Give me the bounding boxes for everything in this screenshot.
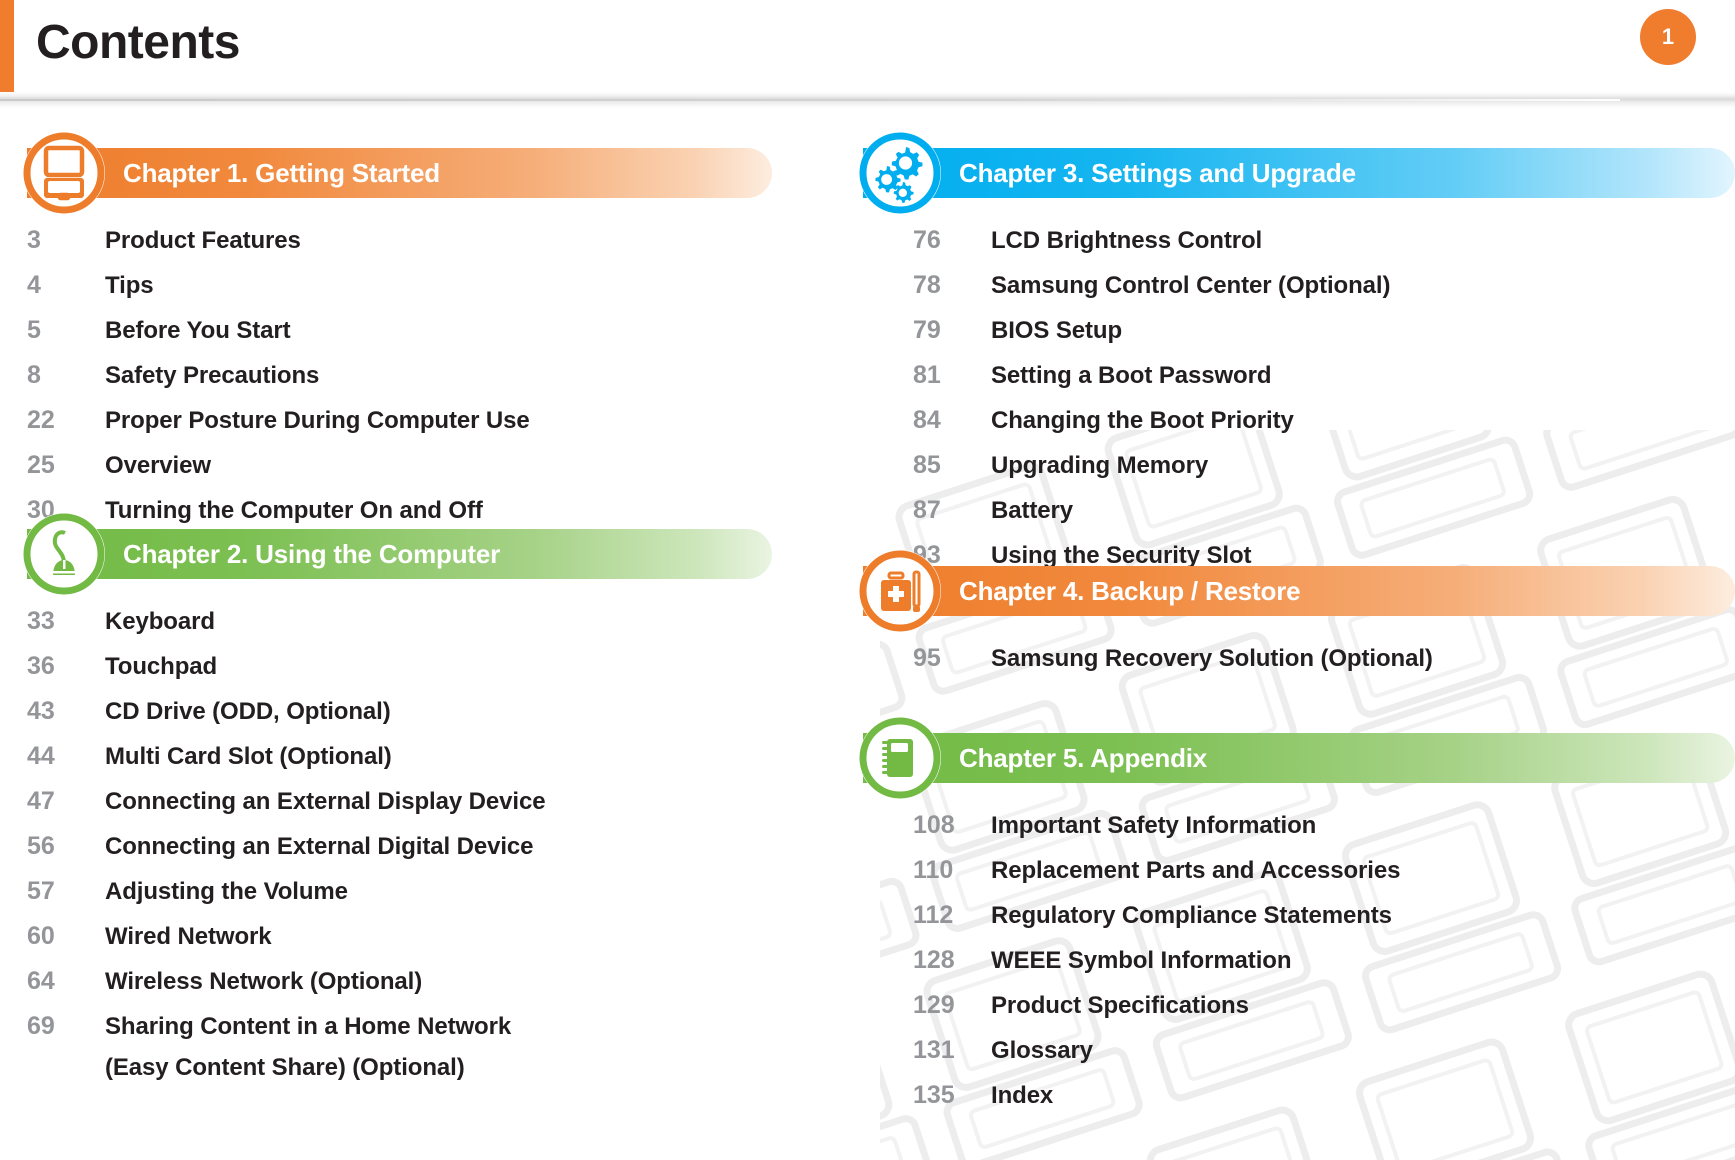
entry-title: Keyboard xyxy=(105,601,215,642)
entry-title: Setting a Boot Password xyxy=(991,355,1271,396)
gears-icon xyxy=(859,132,941,214)
chapter-entries-3: 76 LCD Brightness Control 78 Samsung Con… xyxy=(913,220,1735,576)
toc-entry[interactable]: 112 Regulatory Compliance Statements xyxy=(913,895,1735,936)
entry-page-number: 128 xyxy=(913,940,991,981)
toc-entry[interactable]: 25 Overview xyxy=(27,445,772,486)
entry-page-number: 57 xyxy=(27,871,105,912)
toc-entry[interactable]: 76 LCD Brightness Control xyxy=(913,220,1735,261)
entry-title: Regulatory Compliance Statements xyxy=(991,895,1392,936)
entry-page-number: 76 xyxy=(913,220,991,261)
chapter-entries-4: 95 Samsung Recovery Solution (Optional) xyxy=(913,638,1735,679)
toc-entry[interactable]: 135 Index xyxy=(913,1075,1735,1116)
page-number-badge: 1 xyxy=(1640,9,1696,65)
right-column: Chapter 3. Settings and Upgrade 76 LCD B… xyxy=(868,0,1735,1160)
entry-page-number: 95 xyxy=(913,638,991,679)
entry-title: LCD Brightness Control xyxy=(991,220,1262,261)
entry-page-number: 5 xyxy=(27,310,105,351)
entry-page-number: 85 xyxy=(913,445,991,486)
entry-page-number: 110 xyxy=(913,850,991,891)
toc-entry[interactable]: 108 Important Safety Information xyxy=(913,805,1735,846)
left-column: Chapter 1. Getting Started 3 Product Fea… xyxy=(0,0,868,1160)
header-accent-bar xyxy=(0,0,14,92)
chapter-header-bar-4[interactable]: Chapter 4. Backup / Restore xyxy=(863,566,1735,616)
entry-title-multiline: Sharing Content in a Home Network (Easy … xyxy=(105,1006,511,1088)
entry-title: Turning the Computer On and Off xyxy=(105,490,483,531)
toc-entry[interactable]: 64 Wireless Network (Optional) xyxy=(27,961,772,1002)
toc-entry[interactable]: 110 Replacement Parts and Accessories xyxy=(913,850,1735,891)
toc-entry[interactable]: 44 Multi Card Slot (Optional) xyxy=(27,736,772,777)
entry-title: WEEE Symbol Information xyxy=(991,940,1291,981)
entry-title: Samsung Control Center (Optional) xyxy=(991,265,1390,306)
toc-entry[interactable]: 95 Samsung Recovery Solution (Optional) xyxy=(913,638,1735,679)
toc-entry[interactable]: 22 Proper Posture During Computer Use xyxy=(27,400,772,441)
entry-title: Connecting an External Display Device xyxy=(105,781,545,822)
chapter-entries-1: 3 Product Features 4 Tips 5 Before You S… xyxy=(27,220,772,531)
toc-entry[interactable]: 81 Setting a Boot Password xyxy=(913,355,1735,396)
toc-entry[interactable]: 4 Tips xyxy=(27,265,772,306)
entry-title: CD Drive (ODD, Optional) xyxy=(105,691,391,732)
toc-entry[interactable]: 84 Changing the Boot Priority xyxy=(913,400,1735,441)
entry-page-number: 81 xyxy=(913,355,991,396)
chapter-block-4: Chapter 4. Backup / Restore 95 Samsung R… xyxy=(863,566,1735,683)
entry-title: BIOS Setup xyxy=(991,310,1122,351)
entry-title: Proper Posture During Computer Use xyxy=(105,400,530,441)
entry-title-line-2: (Easy Content Share) (Optional) xyxy=(105,1047,511,1088)
entry-page-number: 131 xyxy=(913,1030,991,1071)
entry-title: Multi Card Slot (Optional) xyxy=(105,736,392,777)
entry-page-number: 44 xyxy=(27,736,105,777)
entry-title: Battery xyxy=(991,490,1073,531)
chapter-title-4: Chapter 4. Backup / Restore xyxy=(959,576,1300,607)
entry-title: Product Features xyxy=(105,220,301,261)
header-divider-line xyxy=(0,99,1620,101)
entry-page-number: 112 xyxy=(913,895,991,936)
chapter-header-bar-3[interactable]: Chapter 3. Settings and Upgrade xyxy=(863,148,1735,198)
toc-entry[interactable]: 85 Upgrading Memory xyxy=(913,445,1735,486)
entry-title: Touchpad xyxy=(105,646,217,687)
chapter-title-2: Chapter 2. Using the Computer xyxy=(123,539,500,570)
toc-entry[interactable]: 131 Glossary xyxy=(913,1030,1735,1071)
chapter-header-bar-2[interactable]: Chapter 2. Using the Computer xyxy=(27,529,772,579)
chapter-header-bar-1[interactable]: Chapter 1. Getting Started xyxy=(27,148,772,198)
page-title: Contents xyxy=(36,14,240,72)
toc-entry[interactable]: 33 Keyboard xyxy=(27,601,772,642)
toc-entry[interactable]: 129 Product Specifications xyxy=(913,985,1735,1026)
entry-page-number: 135 xyxy=(913,1075,991,1116)
chapter-header-bar-5[interactable]: Chapter 5. Appendix xyxy=(863,733,1735,783)
entry-page-number: 43 xyxy=(27,691,105,732)
entry-title: Glossary xyxy=(991,1030,1093,1071)
toc-entry[interactable]: 47 Connecting an External Display Device xyxy=(27,781,772,822)
contents-page: Contents 1 Chapter 1. Getting Started xyxy=(0,0,1735,1160)
entry-page-number: 69 xyxy=(27,1006,105,1047)
chapter-block-1: Chapter 1. Getting Started 3 Product Fea… xyxy=(27,148,772,535)
entry-title: Wireless Network (Optional) xyxy=(105,961,422,1002)
entry-title: Important Safety Information xyxy=(991,805,1316,846)
toc-entry[interactable]: 30 Turning the Computer On and Off xyxy=(27,490,772,531)
entry-page-number: 108 xyxy=(913,805,991,846)
entry-title: Upgrading Memory xyxy=(991,445,1208,486)
chapter-block-2: Chapter 2. Using the Computer 33 Keyboar… xyxy=(27,529,772,1092)
entry-page-number: 78 xyxy=(913,265,991,306)
first-aid-kit-icon xyxy=(859,550,941,632)
entry-title: Safety Precautions xyxy=(105,355,319,396)
entry-page-number: 8 xyxy=(27,355,105,396)
chapter-entries-5: 108 Important Safety Information 110 Rep… xyxy=(913,805,1735,1116)
toc-entry[interactable]: 87 Battery xyxy=(913,490,1735,531)
entry-page-number: 64 xyxy=(27,961,105,1002)
laptop-icon xyxy=(23,132,105,214)
chapter-title-5: Chapter 5. Appendix xyxy=(959,743,1207,774)
entry-title: Connecting an External Digital Device xyxy=(105,826,533,867)
entry-page-number: 56 xyxy=(27,826,105,867)
toc-entry[interactable]: 3 Product Features xyxy=(27,220,772,261)
entry-page-number: 129 xyxy=(913,985,991,1026)
toc-entry[interactable]: 57 Adjusting the Volume xyxy=(27,871,772,912)
entry-title: Tips xyxy=(105,265,154,306)
chapter-block-3: Chapter 3. Settings and Upgrade 76 LCD B… xyxy=(863,148,1735,580)
entry-page-number: 87 xyxy=(913,490,991,531)
chapter-title-1: Chapter 1. Getting Started xyxy=(123,158,440,189)
chapter-block-5: Chapter 5. Appendix 108 Important Safety… xyxy=(863,733,1735,1120)
entry-page-number: 47 xyxy=(27,781,105,822)
toc-entry[interactable]: 79 BIOS Setup xyxy=(913,310,1735,351)
entry-title: Before You Start xyxy=(105,310,291,351)
chapter-entries-2: 33 Keyboard 36 Touchpad 43 CD Drive (ODD… xyxy=(27,601,772,1088)
entry-title: Adjusting the Volume xyxy=(105,871,348,912)
page-header: Contents 1 xyxy=(0,0,1735,112)
entry-page-number: 84 xyxy=(913,400,991,441)
entry-page-number: 25 xyxy=(27,445,105,486)
toc-entry[interactable]: 60 Wired Network xyxy=(27,916,772,957)
entry-page-number: 79 xyxy=(913,310,991,351)
entry-page-number: 22 xyxy=(27,400,105,441)
entry-page-number: 36 xyxy=(27,646,105,687)
entry-title: Product Specifications xyxy=(991,985,1249,1026)
toc-entry[interactable]: 36 Touchpad xyxy=(27,646,772,687)
entry-title: Samsung Recovery Solution (Optional) xyxy=(991,638,1433,679)
mouse-icon xyxy=(23,513,105,595)
toc-entry[interactable]: 128 WEEE Symbol Information xyxy=(913,940,1735,981)
entry-title: Replacement Parts and Accessories xyxy=(991,850,1400,891)
entry-page-number: 33 xyxy=(27,601,105,642)
book-icon xyxy=(859,717,941,799)
entry-title: Overview xyxy=(105,445,211,486)
toc-entry[interactable]: 5 Before You Start xyxy=(27,310,772,351)
entry-page-number: 4 xyxy=(27,265,105,306)
entry-title: Index xyxy=(991,1075,1053,1116)
entry-title: Wired Network xyxy=(105,916,272,957)
toc-entry[interactable]: 43 CD Drive (ODD, Optional) xyxy=(27,691,772,732)
chapter-title-3: Chapter 3. Settings and Upgrade xyxy=(959,158,1356,189)
entry-page-number: 3 xyxy=(27,220,105,261)
toc-entry[interactable]: 78 Samsung Control Center (Optional) xyxy=(913,265,1735,306)
entry-title-line-1: Sharing Content in a Home Network xyxy=(105,1006,511,1047)
toc-entry[interactable]: 69 Sharing Content in a Home Network (Ea… xyxy=(27,1006,772,1088)
toc-entry[interactable]: 8 Safety Precautions xyxy=(27,355,772,396)
toc-entry[interactable]: 56 Connecting an External Digital Device xyxy=(27,826,772,867)
entry-page-number: 60 xyxy=(27,916,105,957)
entry-title: Changing the Boot Priority xyxy=(991,400,1294,441)
